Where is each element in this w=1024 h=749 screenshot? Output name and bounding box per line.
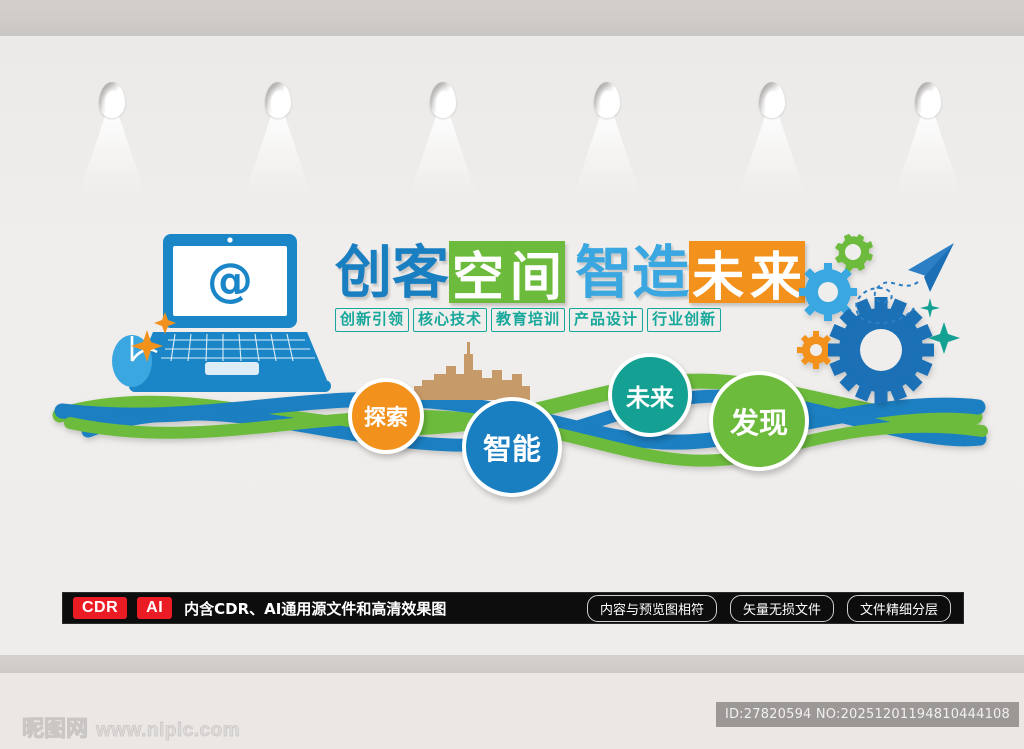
headline-title: 创客空间智造未来 bbox=[335, 239, 805, 303]
watermark-site-name: 昵图网 bbox=[22, 711, 88, 743]
laptop-illustration: @ bbox=[105, 230, 355, 405]
headline-tag: 创新引领 bbox=[335, 308, 409, 332]
asset-id-badge: ID:27820594 NO:20251201194810444108 bbox=[716, 702, 1019, 727]
ceiling-spotlight bbox=[915, 82, 941, 118]
info-bar-pill: 矢量无损文件 bbox=[730, 595, 834, 622]
headline-tag: 核心技术 bbox=[413, 308, 487, 332]
spotlight-bulb bbox=[600, 91, 615, 115]
headline-char-未: 未 bbox=[689, 241, 747, 303]
headline-tag: 教育培训 bbox=[491, 308, 565, 332]
ceiling bbox=[0, 0, 1024, 36]
info-bar-pill-group: 内容与预览图相符矢量无损文件文件精细分层 bbox=[587, 595, 951, 622]
ceiling-spotlight bbox=[759, 82, 785, 118]
gear-cluster bbox=[796, 230, 976, 420]
info-bar: CDR AI 内含CDR、AI通用源文件和高清效果图 内容与预览图相符矢量无损文… bbox=[62, 592, 964, 624]
laptop-body: @ bbox=[129, 234, 331, 392]
format-badge-ai: AI bbox=[137, 597, 172, 619]
headline-tag-row: 创新引领核心技术教育培训产品设计行业创新 bbox=[335, 308, 805, 332]
info-bar-pill: 内容与预览图相符 bbox=[587, 595, 717, 622]
ceiling-spotlight bbox=[430, 82, 456, 118]
format-badge-cdr: CDR bbox=[73, 597, 127, 619]
gear-green-icon bbox=[835, 234, 873, 272]
spotlight-bulb bbox=[765, 91, 780, 115]
spotlight-bulb bbox=[105, 91, 120, 115]
watermark: 昵图网 www.nipic.com bbox=[22, 711, 240, 743]
spotlight-bulb bbox=[271, 91, 286, 115]
headline-tag: 产品设计 bbox=[569, 308, 643, 332]
city-skyline bbox=[412, 340, 532, 402]
spotlight-bulb bbox=[921, 91, 936, 115]
wall-mural-preview: @ 创客空间智造未来 创新引领核心技术教育培训产品 bbox=[0, 0, 1024, 749]
info-bar-pill: 文件精细分层 bbox=[847, 595, 951, 622]
spotlight-bulb bbox=[436, 91, 451, 115]
floor-molding bbox=[0, 655, 1024, 673]
headline-char-空: 空 bbox=[449, 241, 507, 303]
ceiling-spotlight bbox=[265, 82, 291, 118]
ceiling-spotlight bbox=[99, 82, 125, 118]
headline-char-智: 智 bbox=[575, 243, 632, 303]
keyword-circle-发现: 发现 bbox=[709, 371, 809, 471]
keyword-circle-智能: 智能 bbox=[462, 397, 562, 497]
headline-char-创: 创 bbox=[335, 243, 392, 303]
headline-char-造: 造 bbox=[632, 243, 689, 303]
at-symbol-glyph: @ bbox=[207, 253, 253, 307]
headline-tag: 行业创新 bbox=[647, 308, 721, 332]
headline-char-客: 客 bbox=[392, 243, 449, 303]
info-bar-description: 内含CDR、AI通用源文件和高清效果图 bbox=[184, 598, 446, 619]
keyword-circle-未来: 未来 bbox=[608, 353, 692, 437]
headline-char-间: 间 bbox=[507, 241, 565, 303]
watermark-url: www.nipic.com bbox=[96, 720, 240, 742]
keyword-circle-探索: 探索 bbox=[348, 378, 424, 454]
ceiling-spotlight bbox=[594, 82, 620, 118]
headline-block: 创客空间智造未来 创新引领核心技术教育培训产品设计行业创新 bbox=[335, 239, 805, 332]
